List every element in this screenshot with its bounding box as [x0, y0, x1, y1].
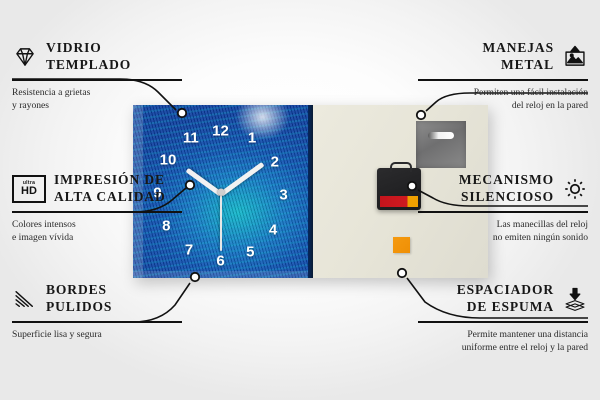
feature-bordes-pulidos: BORDESPULIDOS Superficie lisa y segura: [12, 282, 182, 342]
clock-number: 10: [160, 153, 177, 168]
feature-desc: Permiten una fácil instalacióndel reloj …: [418, 87, 588, 113]
feature-espaciador-espuma: ESPACIADORDE ESPUMA Permite mantener una…: [418, 282, 588, 355]
ultra-hd-icon: ultra HD: [12, 175, 46, 203]
divider: [12, 79, 182, 81]
clock-mechanism: [377, 168, 421, 210]
feature-title: IMPRESIÓN DEALTA CALIDAD: [54, 172, 166, 206]
infographic-canvas: 12 1 2 3 4 5 6 7 8 9 10 11: [0, 0, 600, 400]
clock-number: 12: [212, 123, 229, 138]
ultra-hd-icon-main: HD: [21, 186, 37, 197]
divider: [12, 211, 182, 213]
clock-number: 2: [271, 155, 279, 170]
feature-vidrio-templado: VIDRIOTEMPLADO Resistencia a grietasy ra…: [12, 40, 182, 113]
mechanism-label: [380, 196, 418, 207]
divider: [418, 79, 588, 81]
gear-icon: [562, 176, 588, 202]
hanger-slot: [428, 132, 454, 139]
clock-number: 4: [269, 222, 277, 237]
metal-hanger-plate: [416, 121, 466, 168]
feature-title: MECANISMOSILENCIOSO: [459, 172, 554, 206]
feature-desc: Resistencia a grietasy rayones: [12, 87, 182, 113]
mechanism-tab: [390, 162, 412, 172]
divider: [12, 321, 182, 323]
clock-number: 11: [183, 130, 199, 145]
framed-picture-icon: [562, 44, 588, 70]
feature-impresion-alta-calidad: ultra HD IMPRESIÓN DEALTA CALIDAD Colore…: [12, 172, 182, 245]
diamond-icon: [12, 44, 38, 70]
feature-title: ESPACIADORDE ESPUMA: [457, 282, 554, 316]
feature-desc: Colores intensose imagen vívida: [12, 219, 182, 245]
feature-desc: Las manecillas del relojno emiten ningún…: [418, 219, 588, 245]
clock-center-pin: [217, 188, 224, 195]
feature-manejas-metal: MANEJASMETAL Permiten una fácil instalac…: [418, 40, 588, 113]
feature-title: VIDRIOTEMPLADO: [46, 40, 131, 74]
feature-mecanismo-silencioso: MECANISMOSILENCIOSO Las manecillas del r…: [418, 172, 588, 245]
clock-number: 6: [216, 253, 224, 268]
feature-title: BORDESPULIDOS: [46, 282, 112, 316]
foam-spacer: [393, 237, 410, 253]
feature-title: MANEJASMETAL: [482, 40, 554, 74]
polished-edge-icon: [12, 286, 38, 312]
clock-number: 5: [246, 245, 254, 260]
feature-desc: Superficie lisa y segura: [12, 329, 182, 342]
clock-number: 3: [279, 187, 287, 202]
feature-desc: Permite mantener una distanciauniforme e…: [418, 329, 588, 355]
clock-second-hand: [220, 193, 222, 251]
divider: [418, 321, 588, 323]
arrow-onto-layers-icon: [562, 286, 588, 312]
clock-number: 1: [248, 130, 256, 145]
clock-minute-hand: [219, 161, 264, 196]
divider: [418, 211, 588, 213]
clock-number: 7: [185, 243, 193, 258]
